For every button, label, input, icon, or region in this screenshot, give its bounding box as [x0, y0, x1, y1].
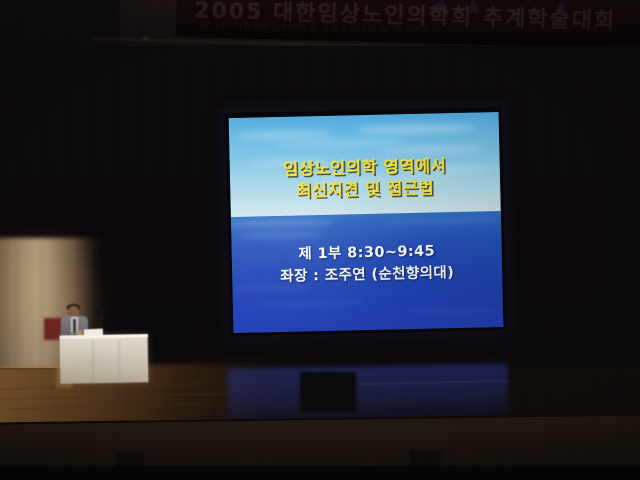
chairperson-tie: [73, 319, 76, 333]
tablecloth-fold: [92, 340, 94, 382]
projection-screen: 임상노인의학 영역에서 최신지견 및 접근법 제 1부 8:30~9:45 좌장…: [229, 112, 504, 333]
foreground-dark-band: [0, 466, 640, 480]
stage-equipment-box: [300, 372, 356, 412]
photo-scene: 2005 대한임상노인의학회 추계학술대회 제17차 대한임상노인의학회 추계학…: [0, 0, 640, 480]
curtain-fold: [40, 240, 43, 386]
curtain-fold: [16, 240, 19, 386]
projection-screen-frame: 임상노인의학 영역에서 최신지견 및 접근법 제 1부 8:30~9:45 좌장…: [226, 107, 507, 336]
ceiling-light-icon: [142, 36, 149, 41]
slide-subtitle-block: 제 1부 8:30~9:45 좌장 : 조주연 (순천향의대): [231, 239, 502, 289]
slide-text-layer: 임상노인의학 영역에서 최신지견 및 접근법 제 1부 8:30~9:45 좌장…: [229, 112, 504, 333]
slide-title-block: 임상노인의학 영역에서 최신지견 및 접근법: [230, 154, 501, 204]
slide-chairperson: 좌장 : 조주연 (순천향의대): [232, 261, 502, 289]
head-table: [60, 334, 149, 384]
tablecloth-fold: [118, 340, 120, 382]
